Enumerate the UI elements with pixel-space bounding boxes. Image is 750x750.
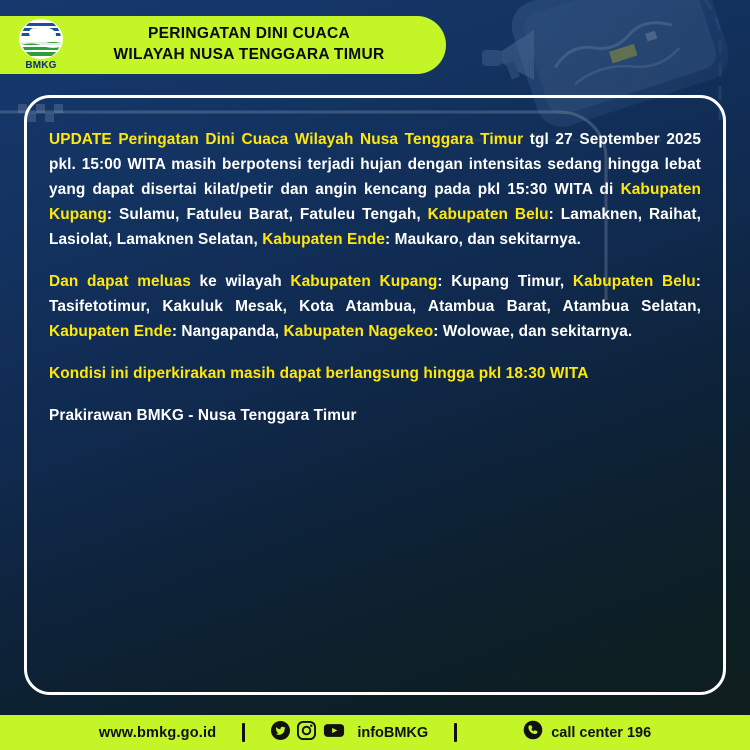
social-handle: infoBMKG xyxy=(357,725,428,741)
highlighted-text: Kabupaten Kupang xyxy=(290,273,437,290)
highlighted-text: Kabupaten Belu xyxy=(428,206,549,223)
bmkg-logo-icon xyxy=(19,19,63,59)
highlighted-text: Kabupaten Ende xyxy=(49,323,172,340)
phone-icon xyxy=(523,720,543,745)
social-links: infoBMKG xyxy=(271,721,428,745)
highlighted-text: UPDATE Peringatan Dini Cuaca Wilayah Nus… xyxy=(49,131,523,148)
call-center-label: call center 196 xyxy=(551,725,651,741)
bmkg-logo: BMKG xyxy=(14,19,68,71)
paragraph-signature: Prakirawan BMKG - Nusa Tenggara Timur xyxy=(49,404,701,429)
bmkg-logo-label: BMKG xyxy=(25,60,56,71)
highlighted-text: Dan dapat meluas xyxy=(49,273,191,290)
body-text-run: : Kupang Timur, xyxy=(437,273,573,290)
footer-bar: www.bmkg.go.id xyxy=(0,715,750,750)
paragraph-expansion-area: Dan dapat meluas ke wilayah Kabupaten Ku… xyxy=(49,270,701,345)
page-title: PERINGATAN DINI CUACA WILAYAH NUSA TENGG… xyxy=(68,24,446,66)
highlighted-text: Kondisi ini diperkirakan masih dapat ber… xyxy=(49,365,589,382)
content-card: UPDATE Peringatan Dini Cuaca Wilayah Nus… xyxy=(24,95,726,695)
page-title-line2: WILAYAH NUSA TENGGARA TIMUR xyxy=(68,45,430,66)
warning-body: UPDATE Peringatan Dini Cuaca Wilayah Nus… xyxy=(49,128,701,429)
paragraph-main-warning: UPDATE Peringatan Dini Cuaca Wilayah Nus… xyxy=(49,128,701,253)
paragraph-duration: Kondisi ini diperkirakan masih dapat ber… xyxy=(49,362,701,387)
poster-canvas: BMKG PERINGATAN DINI CUACA WILAYAH NUSA … xyxy=(0,0,750,750)
body-text-run: : Wolowae, dan sekitarnya. xyxy=(433,323,632,340)
body-text-run: : Maukaro, dan sekitarnya. xyxy=(385,231,581,248)
header-banner: BMKG PERINGATAN DINI CUACA WILAYAH NUSA … xyxy=(0,16,446,74)
twitter-icon[interactable] xyxy=(271,721,290,745)
body-text-run: : Sulamu, Fatuleu Barat, Fatuleu Tengah, xyxy=(107,206,428,223)
call-center[interactable]: call center 196 xyxy=(523,720,651,745)
footer-divider-left xyxy=(242,723,245,742)
highlighted-text: Kabupaten Belu xyxy=(573,273,696,290)
highlighted-text: Kabupaten Nagekeo xyxy=(284,323,434,340)
body-text-run: : Nangapanda, xyxy=(172,323,284,340)
website-link[interactable]: www.bmkg.go.id xyxy=(99,725,216,741)
youtube-icon[interactable] xyxy=(323,721,345,745)
body-text-run: Prakirawan BMKG - Nusa Tenggara Timur xyxy=(49,407,357,424)
instagram-icon[interactable] xyxy=(297,721,316,745)
body-text-run: ke wilayah xyxy=(191,273,291,290)
page-title-line1: PERINGATAN DINI CUACA xyxy=(68,24,430,45)
highlighted-text: Kabupaten Ende xyxy=(262,231,385,248)
footer-divider-right xyxy=(454,723,457,742)
